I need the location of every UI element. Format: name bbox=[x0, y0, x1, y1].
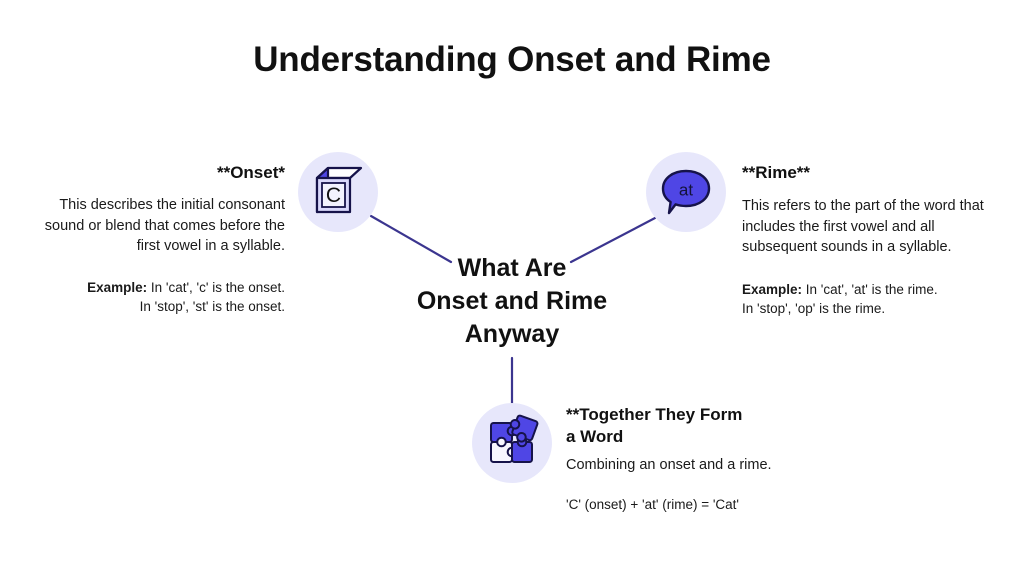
together-heading-line-2: a Word bbox=[566, 426, 816, 448]
together-heading-line-1: **Together They Form bbox=[566, 404, 816, 426]
alphabet-block-c-icon: C bbox=[309, 163, 367, 221]
onset-example: Example: In 'cat', 'c' is the onset. In … bbox=[40, 278, 285, 317]
onset-heading: **Onset* bbox=[40, 162, 285, 184]
rime-heading: **Rime** bbox=[742, 162, 987, 184]
rime-example: Example: In 'cat', 'at' is the rime. In … bbox=[742, 280, 987, 319]
onset-text-block: **Onset* This describes the initial cons… bbox=[40, 162, 285, 317]
rime-body: This refers to the part of the word that… bbox=[742, 196, 987, 258]
rime-text-block: **Rime** This refers to the part of the … bbox=[742, 162, 987, 319]
hub-line-2: Onset and Rime bbox=[392, 285, 632, 318]
infographic-canvas: Understanding Onset and Rime What Are On… bbox=[0, 0, 1024, 572]
speech-bubble-at-icon: at bbox=[657, 163, 715, 221]
rime-example-line-2: In 'stop', 'op' is the rime. bbox=[742, 301, 885, 316]
onset-example-line-2: In 'stop', 'st' is the onset. bbox=[140, 299, 285, 314]
onset-body: This describes the initial consonant sou… bbox=[40, 195, 285, 257]
hub-line-1: What Are bbox=[392, 252, 632, 285]
onset-example-label: Example: bbox=[87, 280, 147, 295]
together-body: Combining an onset and a rime. bbox=[566, 455, 816, 476]
rime-example-label: Example: bbox=[742, 282, 802, 297]
together-text-block: **Together They Form a Word Combining an… bbox=[566, 404, 816, 514]
together-example: 'C' (onset) + 'at' (rime) = 'Cat' bbox=[566, 495, 816, 515]
puzzle-pieces-icon bbox=[483, 414, 541, 472]
onset-icon-circle[interactable]: C bbox=[298, 152, 378, 232]
block-letter: C bbox=[326, 184, 341, 207]
together-icon-circle[interactable] bbox=[472, 403, 552, 483]
hub-line-3: Anyway bbox=[392, 318, 632, 351]
page-title: Understanding Onset and Rime bbox=[0, 40, 1024, 80]
onset-example-line-1: In 'cat', 'c' is the onset. bbox=[147, 280, 285, 295]
bubble-text: at bbox=[679, 181, 693, 200]
rime-icon-circle[interactable]: at bbox=[646, 152, 726, 232]
rime-example-line-1: In 'cat', 'at' is the rime. bbox=[802, 282, 938, 297]
hub-label: What Are Onset and Rime Anyway bbox=[392, 252, 632, 351]
together-heading: **Together They Form a Word bbox=[566, 404, 816, 448]
